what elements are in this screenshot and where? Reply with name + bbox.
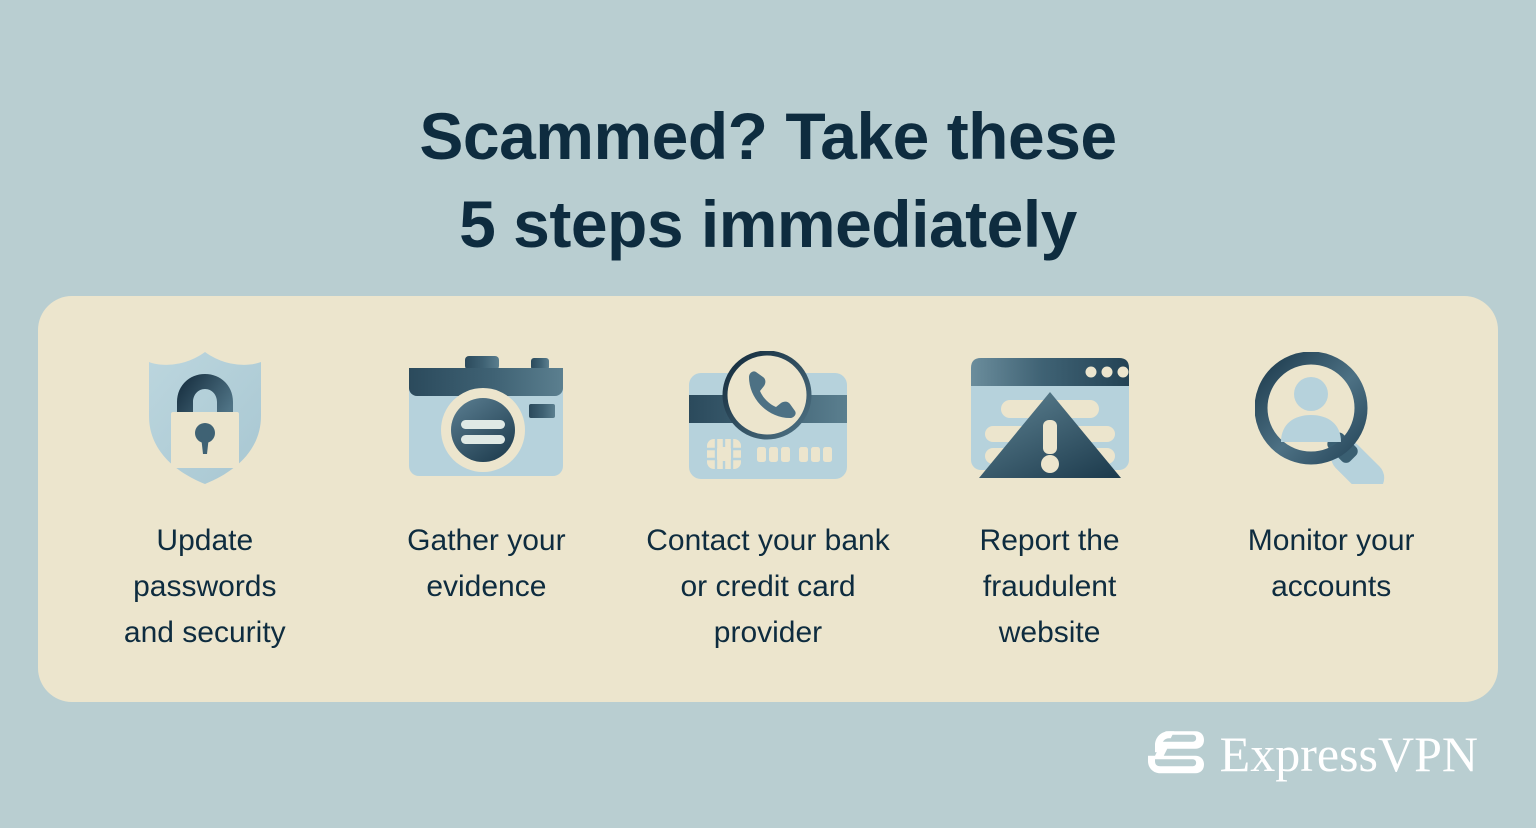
page-title-line-1: Scammed? Take these	[0, 92, 1536, 180]
step-item-5: Monitor your accounts	[1190, 348, 1472, 610]
steps-list: Update passwords and security	[38, 296, 1498, 702]
shield-lock-icon	[115, 348, 295, 488]
expressvpn-wordmark: ExpressVPN	[1220, 729, 1478, 779]
step-item-2: Gather your evidence	[346, 348, 628, 610]
step-label-4: Report the fraudulent website	[980, 518, 1120, 656]
magnifier-person-icon	[1241, 348, 1421, 488]
credit-card-phone-icon	[678, 348, 858, 488]
steps-card: Update passwords and security	[38, 296, 1498, 702]
step-label-2: Gather your evidence	[407, 518, 565, 610]
camera-icon	[396, 348, 576, 488]
expressvpn-logo: ExpressVPN	[1148, 726, 1478, 782]
step-item-3: Contact your bank or credit card provide…	[627, 348, 909, 656]
expressvpn-e-mark	[1148, 726, 1204, 782]
step-item-1: Update passwords and security	[64, 348, 346, 656]
step-label-1: Update passwords and security	[124, 518, 286, 656]
page-title: Scammed? Take these 5 steps immediately	[0, 92, 1536, 268]
page-title-line-2: 5 steps immediately	[0, 180, 1536, 268]
browser-warning-icon	[960, 348, 1140, 488]
step-label-3: Contact your bank or credit card provide…	[646, 518, 889, 656]
infographic-root: Scammed? Take these 5 steps immediately	[0, 0, 1536, 828]
step-item-4: Report the fraudulent website	[909, 348, 1191, 656]
step-label-5: Monitor your accounts	[1248, 518, 1415, 610]
